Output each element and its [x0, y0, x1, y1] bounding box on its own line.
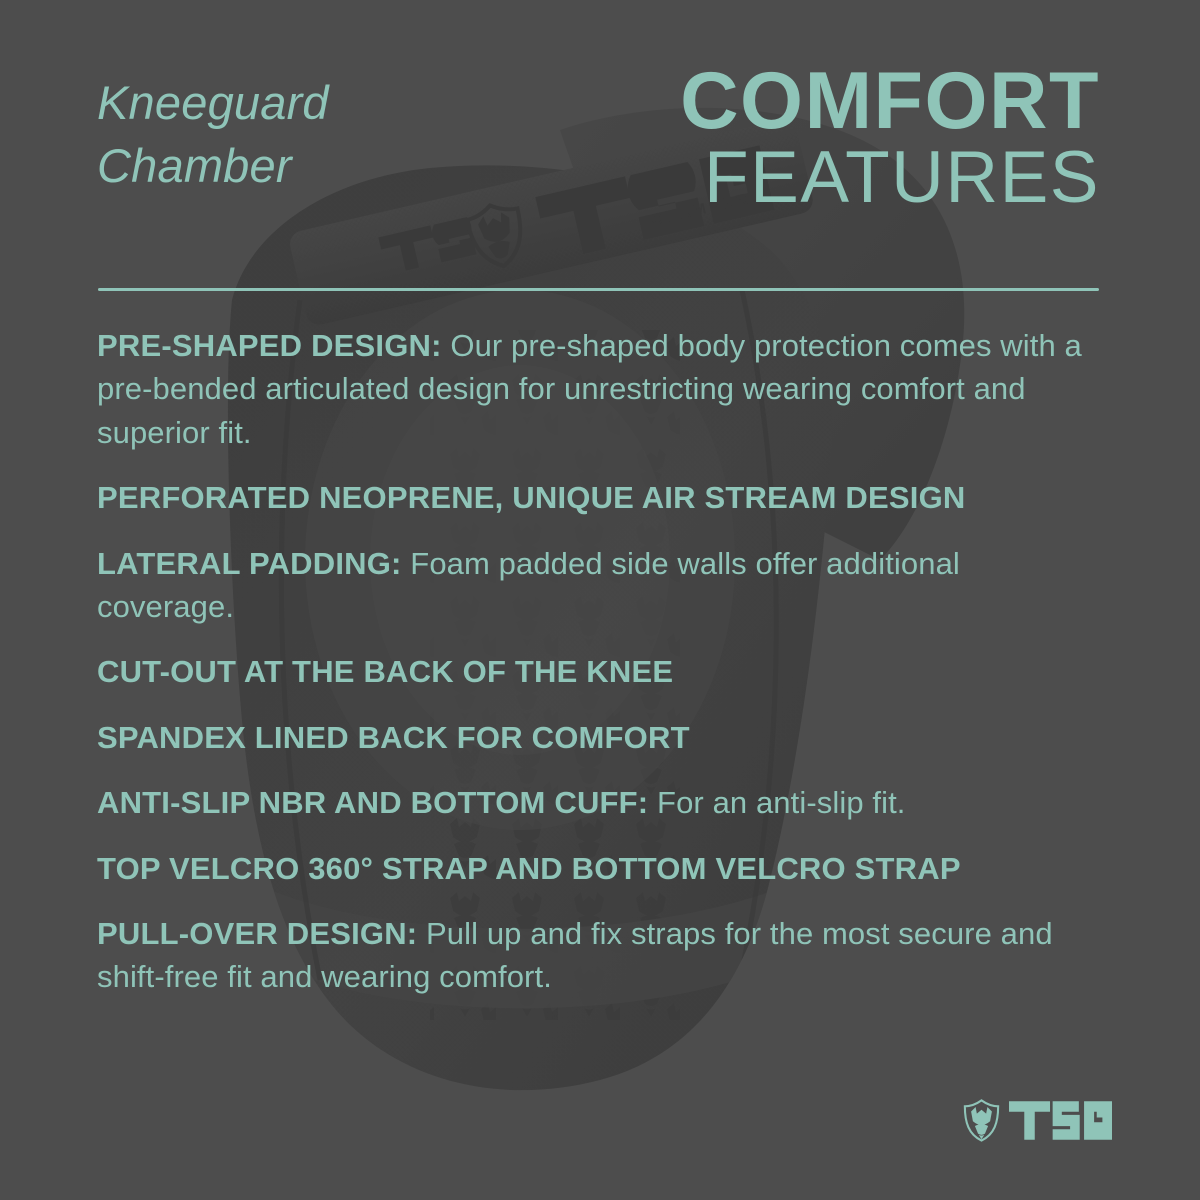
comfort-features-poster: CHAMBER Kneeguard Chamber COMFORT FEATUR…	[0, 0, 1200, 1200]
headline-features: FEATURES	[680, 143, 1100, 214]
headline: COMFORT FEATURES	[680, 62, 1100, 213]
tsg-wordmark-icon	[1009, 1101, 1112, 1140]
feature-item: PRE-SHAPED DESIGN: Our pre-shaped body p…	[97, 324, 1105, 454]
feature-label: TOP VELCRO 360° STRAP AND BOTTOM VELCRO …	[97, 851, 961, 886]
header-divider	[98, 288, 1099, 291]
feature-label: PULL-OVER DESIGN:	[97, 916, 417, 951]
poster-header: Kneeguard Chamber COMFORT FEATURES	[97, 62, 1100, 262]
feature-label: PERFORATED NEOPRENE, UNIQUE AIR STREAM D…	[97, 480, 965, 515]
features-list: PRE-SHAPED DESIGN: Our pre-shaped body p…	[97, 324, 1105, 999]
feature-item: ANTI-SLIP NBR AND BOTTOM CUFF: For an an…	[97, 781, 1105, 824]
feature-item: SPANDEX LINED BACK FOR COMFORT	[97, 716, 1105, 759]
feature-label: CUT-OUT AT THE BACK OF THE KNEE	[97, 654, 673, 689]
tsg-brand-logo	[963, 1099, 1112, 1142]
feature-label: ANTI-SLIP NBR AND BOTTOM CUFF:	[97, 785, 648, 820]
feature-item: LATERAL PADDING: Foam padded side walls …	[97, 542, 1105, 629]
tsg-fox-shield-icon	[963, 1099, 1000, 1142]
feature-label: SPANDEX LINED BACK FOR COMFORT	[97, 720, 690, 755]
feature-label: PRE-SHAPED DESIGN:	[97, 328, 442, 363]
headline-comfort: COMFORT	[680, 62, 1100, 141]
feature-item: CUT-OUT AT THE BACK OF THE KNEE	[97, 650, 1105, 693]
product-title: Kneeguard Chamber	[97, 72, 329, 197]
feature-label: LATERAL PADDING:	[97, 546, 402, 581]
feature-body: For an anti-slip fit.	[648, 785, 905, 820]
feature-item: PULL-OVER DESIGN: Pull up and fix straps…	[97, 912, 1105, 999]
feature-item: PERFORATED NEOPRENE, UNIQUE AIR STREAM D…	[97, 476, 1105, 519]
feature-item: TOP VELCRO 360° STRAP AND BOTTOM VELCRO …	[97, 847, 1105, 890]
